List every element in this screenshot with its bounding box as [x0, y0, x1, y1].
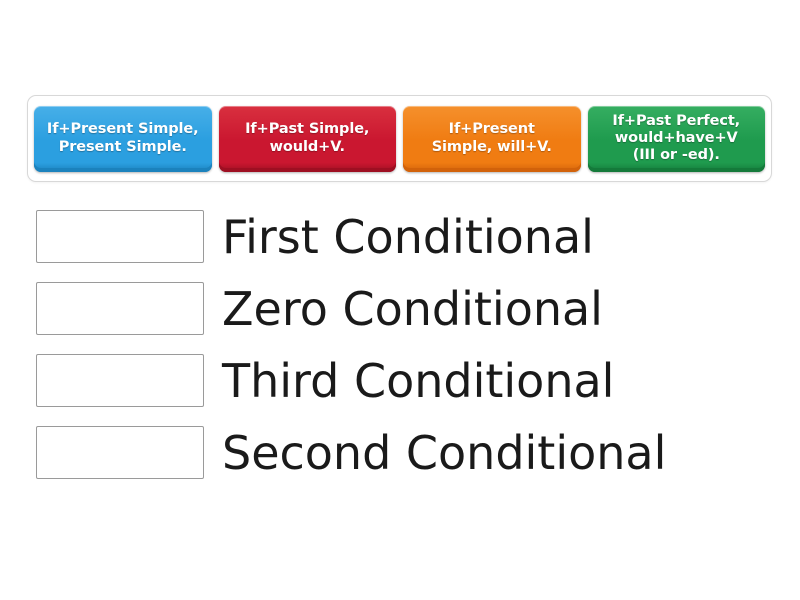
draggable-tile-3[interactable]: If+Present Simple, will+V.	[403, 106, 581, 172]
draggable-tile-4[interactable]: If+Past Perfect, would+have+V (III or -e…	[588, 106, 766, 172]
tile-label: If+Past Perfect, would+have+V (III or -e…	[612, 113, 740, 164]
drop-zone-first-conditional[interactable]	[36, 210, 204, 263]
tile-label: If+Present Simple, Present Simple.	[47, 121, 199, 155]
answer-rows: First Conditional Zero Conditional Third…	[36, 210, 776, 498]
answer-row: Zero Conditional	[36, 282, 776, 335]
draggable-tile-2[interactable]: If+Past Simple, would+V.	[219, 106, 397, 172]
answer-row: Second Conditional	[36, 426, 776, 479]
tile-tray: If+Present Simple, Present Simple. If+Pa…	[27, 95, 772, 182]
answer-row: Third Conditional	[36, 354, 776, 407]
answer-label: Third Conditional	[222, 358, 614, 404]
draggable-tile-1[interactable]: If+Present Simple, Present Simple.	[34, 106, 212, 172]
drop-zone-zero-conditional[interactable]	[36, 282, 204, 335]
tile-label: If+Past Simple, would+V.	[245, 121, 369, 155]
drop-zone-third-conditional[interactable]	[36, 354, 204, 407]
answer-label: First Conditional	[222, 214, 594, 260]
answer-row: First Conditional	[36, 210, 776, 263]
tile-label: If+Present Simple, will+V.	[432, 121, 552, 155]
drop-zone-second-conditional[interactable]	[36, 426, 204, 479]
answer-label: Zero Conditional	[222, 286, 603, 332]
answer-label: Second Conditional	[222, 430, 666, 476]
